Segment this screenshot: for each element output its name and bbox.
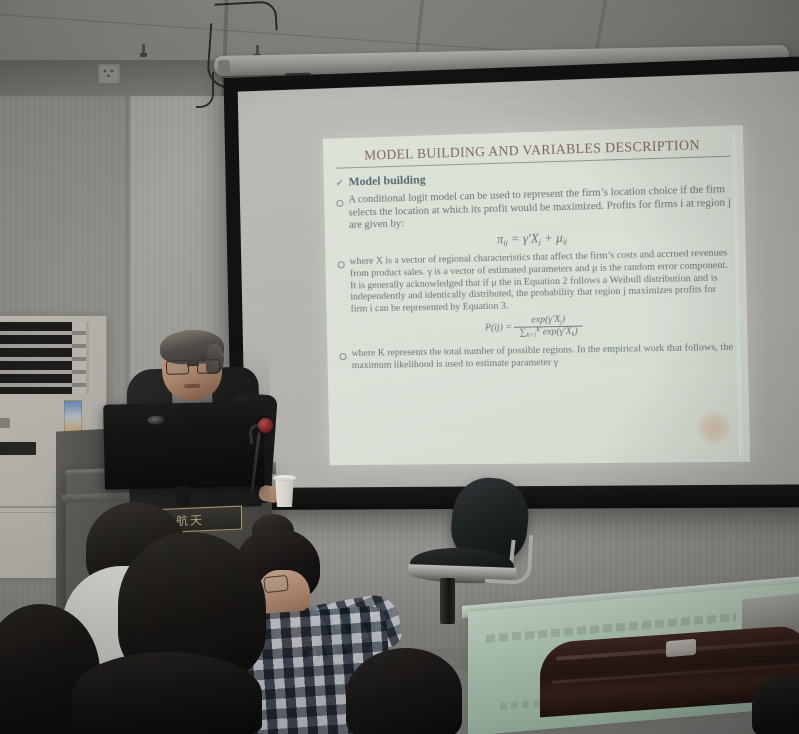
air-conditioner-display-slot: [0, 442, 36, 455]
air-conditioner-energy-label: [64, 400, 82, 432]
paper-cup: [274, 477, 295, 507]
desktop-monitor: [103, 401, 265, 489]
equation-2-text: P(ij) = exp(γ′Xj) ∑k=1K exp(γ′Xk): [485, 321, 583, 333]
monitor-stand: [176, 486, 190, 506]
screen-surface: MODEL BUILDING AND VARIABLES DESCRIPTION…: [238, 71, 799, 490]
circle-bullet-icon: [336, 200, 343, 207]
checkmark-icon: ✓: [336, 176, 344, 190]
wall-hook-icon: [142, 44, 145, 55]
roller-end-cap: [218, 60, 230, 74]
slide-section-heading-label: Model building: [348, 173, 425, 189]
chair-gas-column: [440, 578, 455, 624]
projector-glare-spot: [696, 410, 733, 446]
circle-bullet-icon: [338, 261, 345, 268]
attendee-head-front-right: [346, 648, 462, 734]
slide-paragraph-2-text: where X is a vector of regional characte…: [350, 247, 734, 316]
lecture-hall-photo: MODEL BUILDING AND VARIABLES DESCRIPTION…: [0, 0, 799, 734]
glasses-left-lens: [166, 360, 189, 375]
monitor-logo-icon: [147, 415, 164, 424]
slide-title: MODEL BUILDING AND VARIABLES DESCRIPTION: [335, 136, 731, 169]
projection-screen: MODEL BUILDING AND VARIABLES DESCRIPTION…: [224, 56, 799, 510]
chair-armrest: [485, 533, 534, 585]
air-conditioner-vent-tabs: [72, 322, 86, 394]
slide-paragraph-1: A conditional logit model can be used to…: [336, 184, 732, 233]
slide-equation-2: P(ij) = exp(γ′Xj) ∑k=1K exp(γ′Xk): [339, 311, 735, 343]
glasses-right-lens: [197, 359, 220, 374]
equation-1-text: πij = γ′Xj + μij: [497, 230, 567, 246]
slide-paragraph-3: where K represents the total number of p…: [339, 341, 735, 371]
circle-bullet-icon: [339, 353, 346, 360]
paper-cup-rim: [273, 475, 296, 481]
presenter-glasses-icon: [166, 359, 220, 374]
attendee-head-front-center: [72, 652, 262, 734]
slide-paragraph-3-text: where K represents the total number of p…: [351, 341, 735, 371]
presenter-mouth: [184, 384, 200, 389]
microphone-head-icon: [258, 418, 273, 433]
air-conditioner-brand-plate: [0, 418, 10, 428]
power-outlet-icon: [97, 63, 121, 85]
attendee-glasses-icon: [263, 575, 289, 593]
slide-paragraph-2: where X is a vector of regional characte…: [337, 247, 734, 316]
table-small-object: [666, 639, 696, 658]
slide-paragraph-1-text: A conditional logit model can be used to…: [348, 184, 732, 233]
projected-slide: MODEL BUILDING AND VARIABLES DESCRIPTION…: [323, 125, 750, 465]
